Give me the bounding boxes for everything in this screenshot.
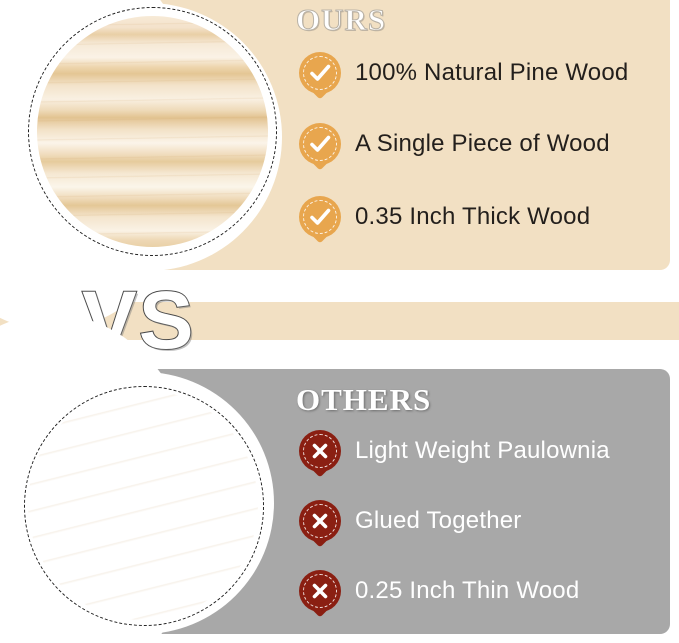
others-wood-circle xyxy=(12,372,274,634)
ours-wood-circle xyxy=(14,3,282,271)
check-icon xyxy=(299,196,341,238)
dashed-ring-ours xyxy=(28,7,277,256)
ours-feature-label-1: 100% Natural Pine Wood xyxy=(355,59,628,87)
check-glyph xyxy=(299,123,341,165)
others-feature-row-1: Light Weight Paulownia xyxy=(299,430,610,472)
ours-feature-label-3: 0.35 Inch Thick Wood xyxy=(355,203,590,231)
ours-heading: OURS xyxy=(296,2,386,38)
check-glyph xyxy=(299,196,341,238)
others-feature-label-2: Glued Together xyxy=(355,507,521,535)
others-feature-label-1: Light Weight Paulownia xyxy=(355,437,610,465)
others-feature-row-3: 0.25 Inch Thin Wood xyxy=(299,570,579,612)
check-icon xyxy=(299,123,341,165)
ours-feature-label-2: A Single Piece of Wood xyxy=(355,130,610,158)
cross-glyph xyxy=(299,500,341,542)
cross-icon xyxy=(299,500,341,542)
cross-glyph xyxy=(299,570,341,612)
ours-feature-row-1: 100% Natural Pine Wood xyxy=(299,52,628,94)
ours-feature-row-3: 0.35 Inch Thick Wood xyxy=(299,196,590,238)
cross-icon xyxy=(299,430,341,472)
others-feature-row-2: Glued Together xyxy=(299,500,521,542)
cross-icon xyxy=(299,570,341,612)
comparison-infographic: OURS 100% Natural Pine Wood A Single Pie… xyxy=(0,0,679,643)
dashed-ring-others xyxy=(24,386,264,626)
others-heading: OTHERS xyxy=(296,382,431,418)
check-glyph xyxy=(299,52,341,94)
ours-feature-row-2: A Single Piece of Wood xyxy=(299,123,610,165)
others-feature-label-3: 0.25 Inch Thin Wood xyxy=(355,577,579,605)
check-icon xyxy=(299,52,341,94)
cross-glyph xyxy=(299,430,341,472)
